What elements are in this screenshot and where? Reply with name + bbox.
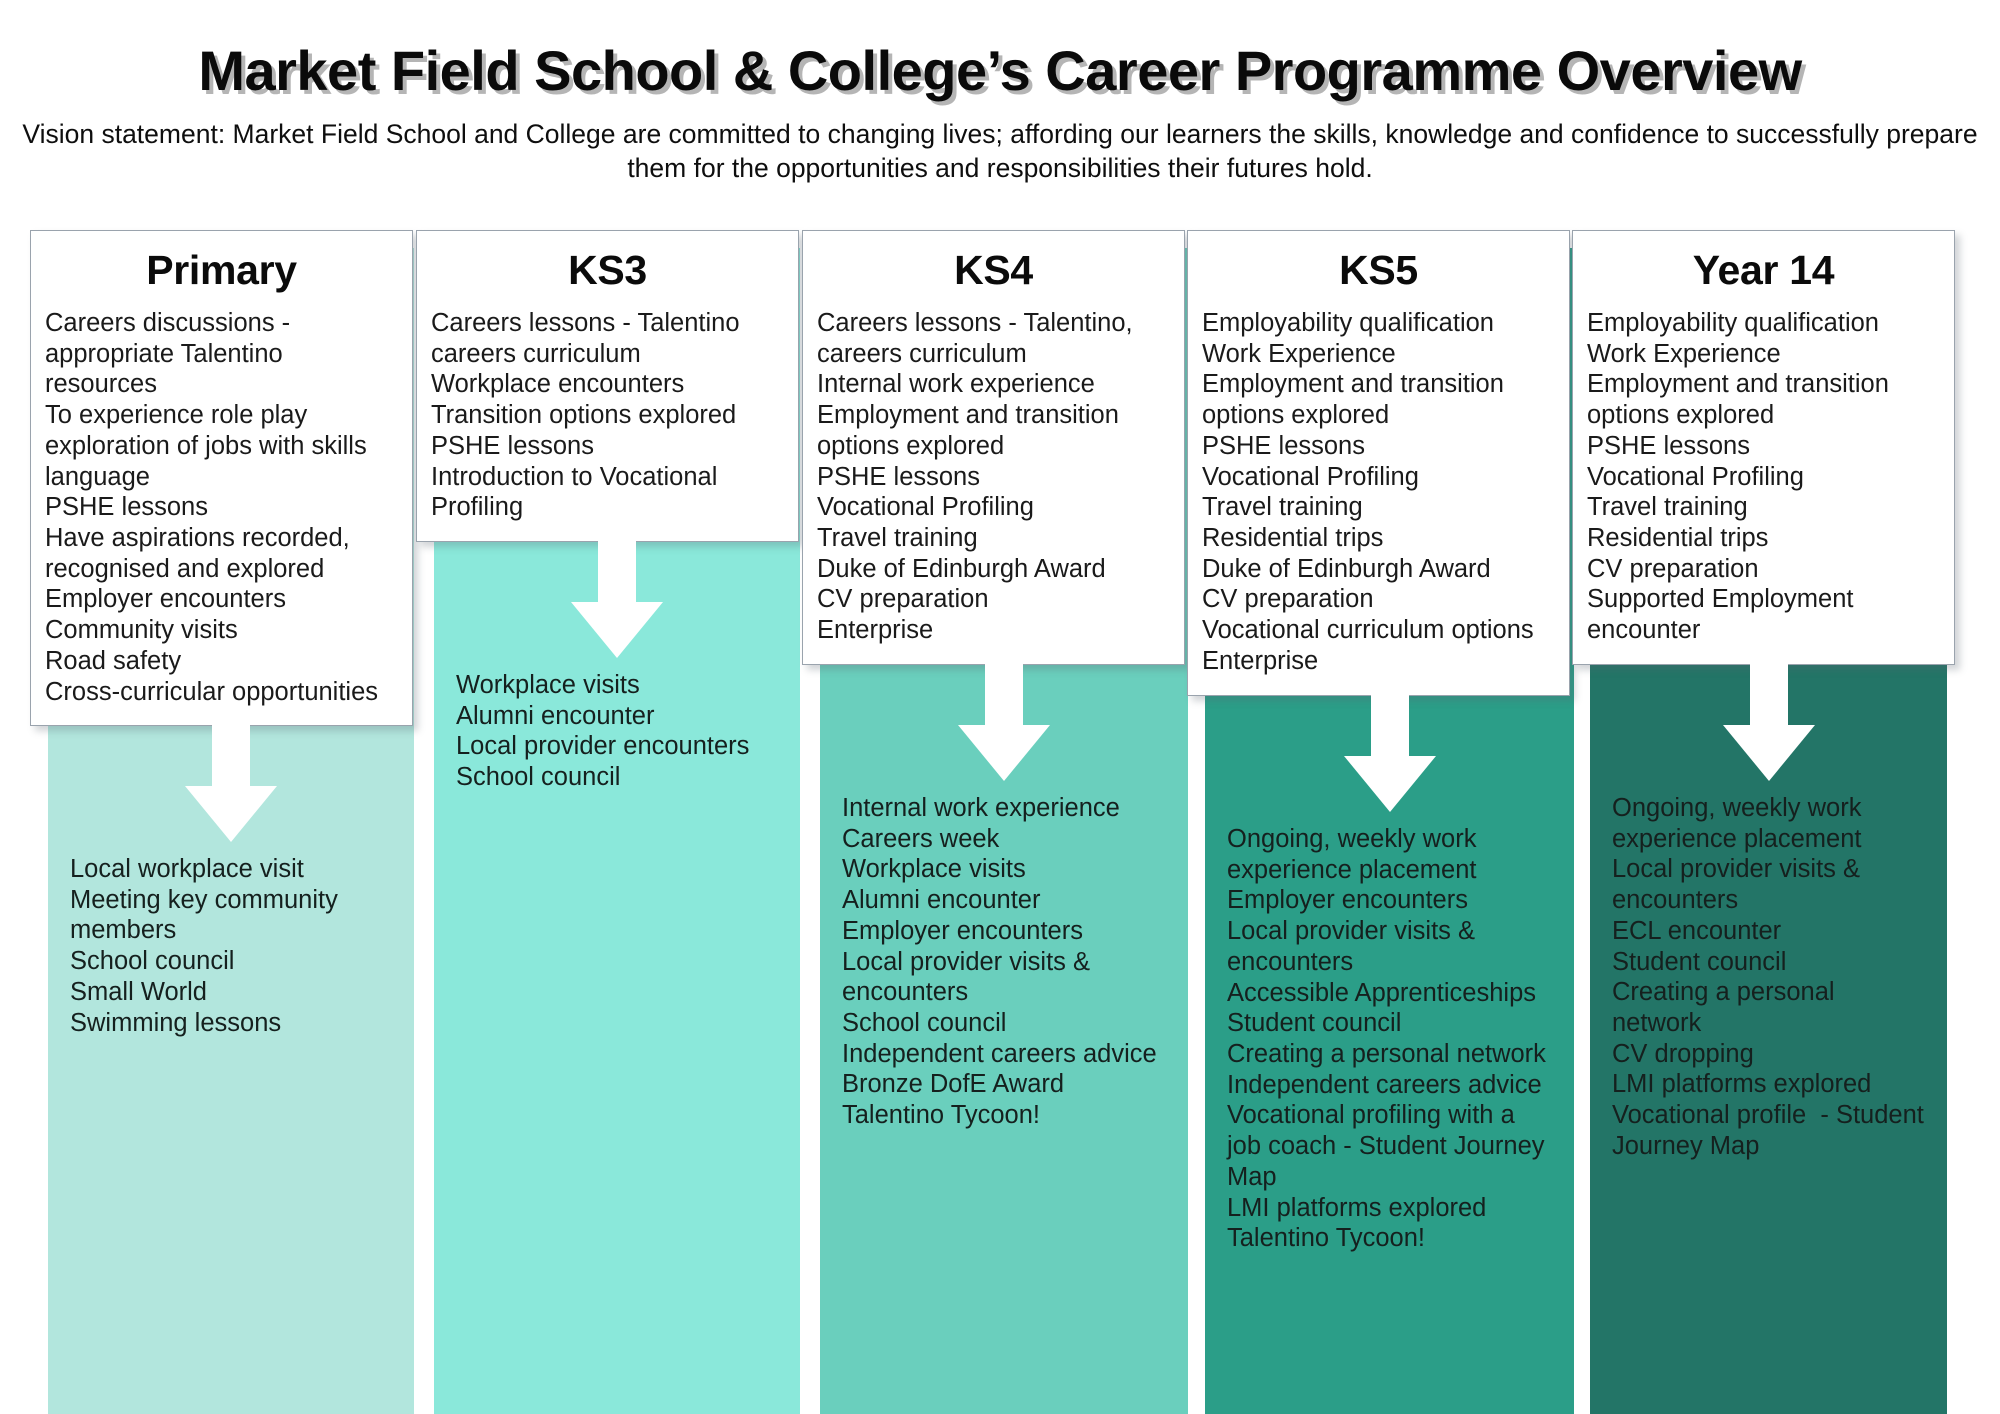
stage-bottom-block-ks4: Internal work experienceCareers weekWork… [820,793,1188,1131]
list-item: CV preparation [1202,584,1555,615]
vision-statement: Vision statement: Market Field School an… [5,117,1995,186]
arrow-head [571,602,663,658]
stage-bottom-list-ks5: Ongoing, weekly work experience placemen… [1227,824,1552,1254]
list-item: LMI platforms explored [1612,1069,1925,1100]
list-item: Ongoing, weekly work experience placemen… [1612,793,1925,854]
down-arrow-icon-primary [185,724,277,842]
list-item: Employment and transition options explor… [1587,369,1940,430]
list-item: Workplace visits [842,854,1166,885]
list-item: Supported Employment encounter [1587,584,1940,645]
stage-bottom-block-ks3: Workplace visitsAlumni encounterLocal pr… [434,670,800,793]
list-item: Road safety [45,646,398,677]
list-item: School council [70,946,392,977]
list-item: Vocational profile - Student Journey Map [1612,1100,1925,1161]
list-item: Careers lessons - Talentino careers curr… [431,308,784,369]
list-item: Workplace visits [456,670,778,701]
list-item: Work Experience [1587,339,1940,370]
list-item: Internal work experience [817,369,1170,400]
list-item: Independent careers advice [842,1039,1166,1070]
list-item: Employment and transition options explor… [1202,369,1555,430]
list-item: Local provider visits & encounters [1612,854,1925,915]
list-item: Talentino Tycoon! [1227,1223,1552,1254]
stage-top-list-ks4: Careers lessons - Talentino, careers cur… [817,308,1170,646]
stage-card-ks4: KS4Careers lessons - Talentino, careers … [802,230,1185,665]
list-item: Enterprise [817,615,1170,646]
list-item: LMI platforms explored [1227,1193,1552,1224]
arrow-shaft [598,540,636,608]
stage-card-primary: PrimaryCareers discussions - appropriate… [30,230,413,726]
stage-card-ks3: KS3Careers lessons - Talentino careers c… [416,230,799,542]
list-item: Community visits [45,615,398,646]
list-item: Work Experience [1202,339,1555,370]
list-item: Local provider visits & encounters [1227,916,1552,977]
list-item: Local provider visits & encounters [842,947,1166,1008]
stage-card-year14: Year 14Employability qualificationWork E… [1572,230,1955,665]
list-item: PSHE lessons [431,431,784,462]
down-arrow-icon-year14 [1723,663,1815,781]
list-item: Transition options explored [431,400,784,431]
list-item: PSHE lessons [45,492,398,523]
stage-title-primary: Primary [45,247,398,294]
list-item: Careers discussions - appropriate Talent… [45,308,398,400]
stage-title-ks5: KS5 [1202,247,1555,294]
infographic-page: Market Field School & College’s Career P… [0,0,2000,1414]
list-item: CV preparation [1587,554,1940,585]
career-stage-columns: PrimaryCareers discussions - appropriate… [0,248,2000,1414]
list-item: Workplace encounters [431,369,784,400]
list-item: Swimming lessons [70,1008,392,1039]
arrow-head [185,786,277,842]
list-item: Bronze DofE Award [842,1069,1166,1100]
arrow-head [958,725,1050,781]
stage-top-list-ks3: Careers lessons - Talentino careers curr… [431,308,784,523]
stage-bottom-list-ks4: Internal work experienceCareers weekWork… [842,793,1166,1131]
list-item: CV preparation [817,584,1170,615]
list-item: Independent careers advice [1227,1070,1552,1101]
stage-bottom-list-primary: Local workplace visitMeeting key communi… [70,854,392,1038]
list-item: Employer encounters [842,916,1166,947]
list-item: Creating a personal network [1227,1039,1552,1070]
list-item: Small World [70,977,392,1008]
list-item: Duke of Edinburgh Award [817,554,1170,585]
list-item: School council [456,762,778,793]
list-item: ECL encounter [1612,916,1925,947]
stage-column-ks3: KS3Careers lessons - Talentino careers c… [434,248,800,1414]
list-item: Ongoing, weekly work experience placemen… [1227,824,1552,885]
stage-column-year14: Year 14Employability qualificationWork E… [1590,248,1947,1414]
stage-bottom-block-year14: Ongoing, weekly work experience placemen… [1590,793,1947,1162]
list-item: Local workplace visit [70,854,392,885]
list-item: Student council [1612,947,1925,978]
list-item: Employment and transition options explor… [817,400,1170,461]
list-item: CV dropping [1612,1039,1925,1070]
list-item: Employability qualification [1202,308,1555,339]
stage-title-year14: Year 14 [1587,247,1940,294]
list-item: Employability qualification [1587,308,1940,339]
arrow-shaft [1750,663,1788,731]
arrow-head [1723,725,1815,781]
arrow-shaft [212,724,250,792]
list-item: Residential trips [1202,523,1555,554]
list-item: Vocational curriculum options [1202,615,1555,646]
list-item: Vocational profiling with a job coach - … [1227,1100,1552,1192]
list-item: Careers week [842,824,1166,855]
list-item: Have aspirations recorded, recognised an… [45,523,398,584]
list-item: Local provider encounters [456,731,778,762]
arrow-shaft [1371,694,1409,762]
list-item: Cross-curricular opportunities [45,677,398,708]
list-item: Vocational Profiling [1202,462,1555,493]
list-item: Travel training [817,523,1170,554]
list-item: PSHE lessons [1587,431,1940,462]
list-item: To experience role play exploration of j… [45,400,398,492]
list-item: Travel training [1587,492,1940,523]
list-item: Vocational Profiling [1587,462,1940,493]
list-item: Accessible Apprenticeships [1227,978,1552,1009]
stage-title-ks4: KS4 [817,247,1170,294]
list-item: Introduction to Vocational Profiling [431,462,784,523]
stage-bottom-list-ks3: Workplace visitsAlumni encounterLocal pr… [456,670,778,793]
list-item: Duke of Edinburgh Award [1202,554,1555,585]
list-item: Careers lessons - Talentino, careers cur… [817,308,1170,369]
list-item: Alumni encounter [842,885,1166,916]
list-item: Meeting key community members [70,885,392,946]
down-arrow-icon-ks4 [958,663,1050,781]
stage-top-list-year14: Employability qualificationWork Experien… [1587,308,1940,646]
down-arrow-icon-ks3 [571,540,663,658]
stage-column-ks5: KS5Employability qualificationWork Exper… [1205,248,1574,1414]
stage-column-primary: PrimaryCareers discussions - appropriate… [48,248,414,1414]
list-item: Student council [1227,1008,1552,1039]
list-item: Employer encounters [45,584,398,615]
stage-title-ks3: KS3 [431,247,784,294]
list-item: School council [842,1008,1166,1039]
stage-bottom-list-year14: Ongoing, weekly work experience placemen… [1612,793,1925,1162]
page-title: Market Field School & College’s Career P… [0,0,2000,103]
page-header: Market Field School & College’s Career P… [0,0,2000,186]
stage-bottom-block-primary: Local workplace visitMeeting key communi… [48,854,414,1038]
stage-bottom-block-ks5: Ongoing, weekly work experience placemen… [1205,824,1574,1254]
stage-column-ks4: KS4Careers lessons - Talentino, careers … [820,248,1188,1414]
list-item: Travel training [1202,492,1555,523]
list-item: Enterprise [1202,646,1555,677]
stage-card-ks5: KS5Employability qualificationWork Exper… [1187,230,1570,696]
arrow-head [1344,756,1436,812]
list-item: Employer encounters [1227,885,1552,916]
list-item: Creating a personal network [1612,977,1925,1038]
stage-top-list-ks5: Employability qualificationWork Experien… [1202,308,1555,677]
list-item: Residential trips [1587,523,1940,554]
list-item: Vocational Profiling [817,492,1170,523]
list-item: PSHE lessons [817,462,1170,493]
list-item: Alumni encounter [456,701,778,732]
list-item: Internal work experience [842,793,1166,824]
list-item: PSHE lessons [1202,431,1555,462]
stage-top-list-primary: Careers discussions - appropriate Talent… [45,308,398,707]
arrow-shaft [985,663,1023,731]
list-item: Talentino Tycoon! [842,1100,1166,1131]
down-arrow-icon-ks5 [1344,694,1436,812]
